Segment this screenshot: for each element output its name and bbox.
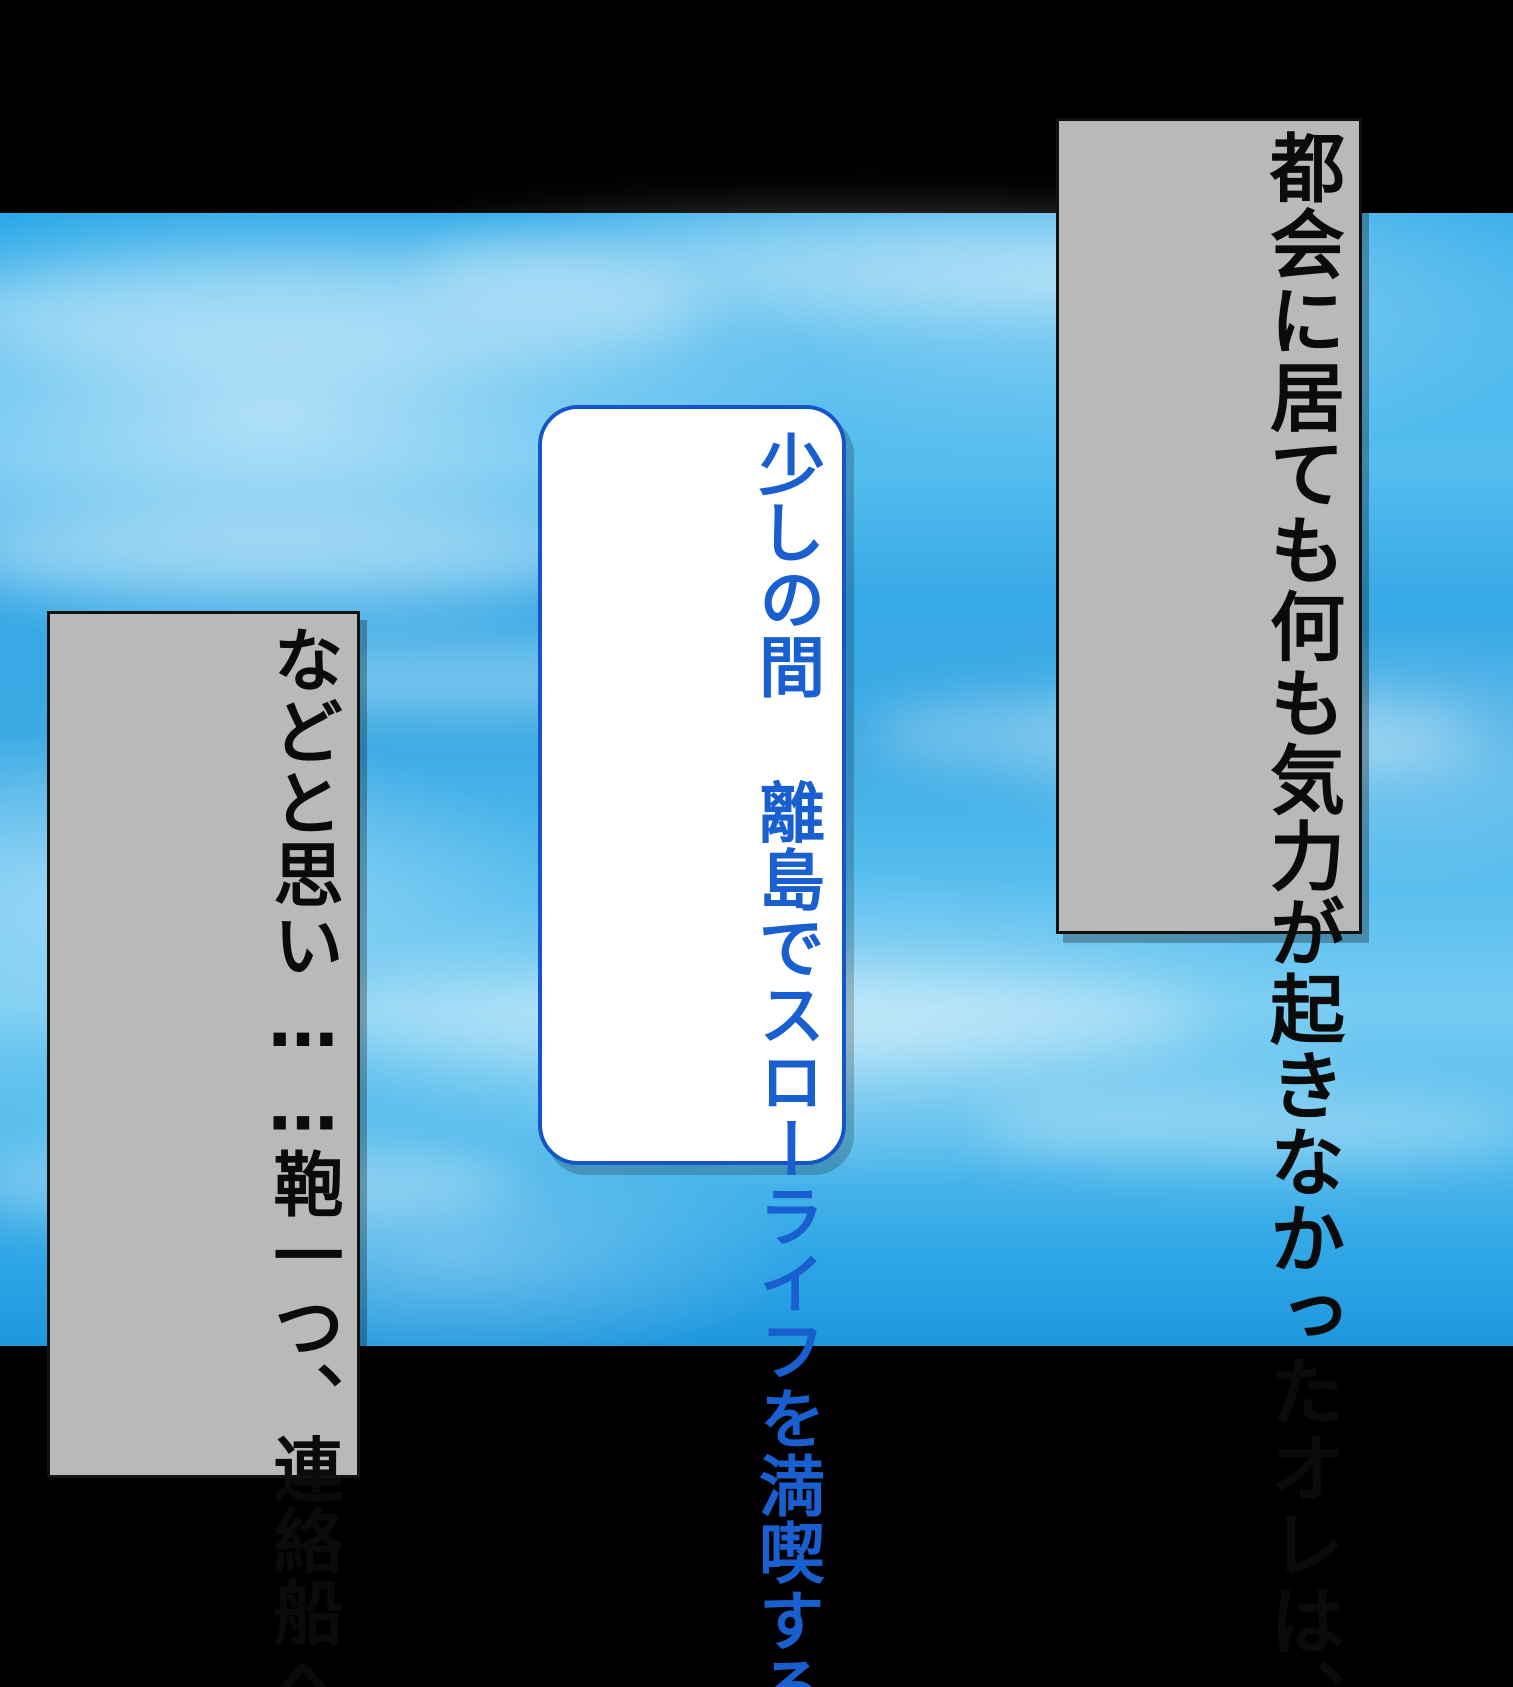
thought-bubble-text: 少しの間 離島でスローライフを満喫するのも良いか xyxy=(744,431,828,1146)
narration-top-text: 都会に居ても何も気力が起きなかったオレは、 xyxy=(1253,129,1349,919)
manga-page: 都会に居ても何も気力が起きなかったオレは、 少しの間 離島でスローライフを満喫す… xyxy=(0,0,1513,1687)
cloud-streak xyxy=(980,1093,1513,1163)
narration-box-top: 都会に居ても何も気力が起きなかったオレは、 xyxy=(1056,118,1362,934)
narration-box-bottom: などと思い……鞄一つ、連絡船へと飛び乗ったのだった。 xyxy=(47,611,360,1478)
narration-bottom-text: などと思い……鞄一つ、連絡船へと飛び乗ったのだった。 xyxy=(257,624,347,1464)
cloud-streak xyxy=(0,513,600,599)
thought-bubble: 少しの間 離島でスローライフを満喫するのも良いか xyxy=(538,405,846,1165)
